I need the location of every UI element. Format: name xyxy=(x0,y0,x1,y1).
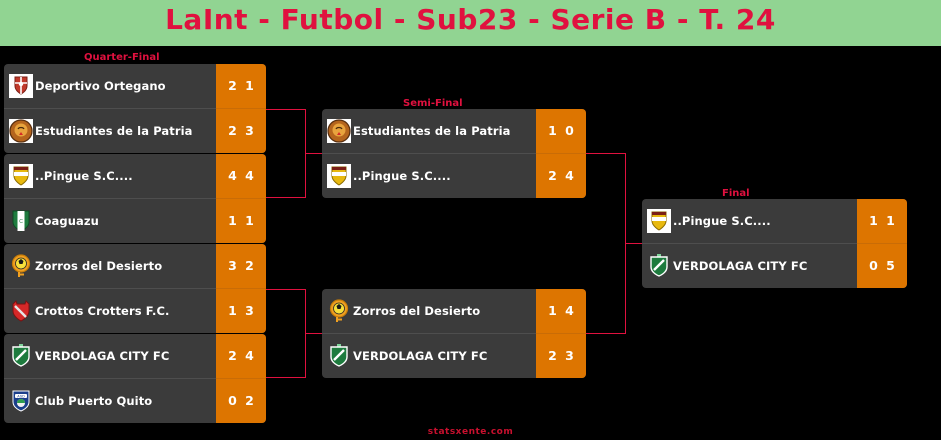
score-cell: 1 4 xyxy=(536,289,586,334)
score-leg1: 1 xyxy=(865,213,882,228)
score-leg2: 4 xyxy=(561,303,578,318)
score-leg1: 2 xyxy=(544,348,561,363)
match-quarter-final-2[interactable]: ..Pingue S.C.... C Coaguazu 4 4 1 1 xyxy=(4,154,266,243)
shield-gold-icon xyxy=(326,163,352,189)
score-column: 3 2 1 3 xyxy=(216,244,266,333)
match-semi-final-1[interactable]: Estudiantes de la Patria ..Pingue S.C...… xyxy=(322,109,586,198)
score-leg2: 1 xyxy=(882,213,899,228)
score-cell: 1 1 xyxy=(216,199,266,244)
circle-ball-orange-icon xyxy=(8,253,34,279)
connector-sf1-in xyxy=(305,153,323,154)
match-quarter-final-4[interactable]: VERDOLAGA CITY FC ASD Club Puerto Quito … xyxy=(4,334,266,423)
score-cell: 2 3 xyxy=(216,109,266,154)
score-leg1: 1 xyxy=(544,123,561,138)
score-leg1: 1 xyxy=(224,213,241,228)
round-label-final: Final xyxy=(722,188,750,199)
score-leg1: 2 xyxy=(224,348,241,363)
score-cell: 1 1 xyxy=(857,199,907,244)
score-cell: 2 4 xyxy=(536,154,586,199)
score-leg1: 2 xyxy=(224,78,241,93)
score-column: 1 4 2 3 xyxy=(536,289,586,378)
connector-qf2-out xyxy=(266,197,306,198)
shield-gold-icon xyxy=(646,208,672,234)
round-label-semi-final: Semi-Final xyxy=(403,98,463,109)
score-leg2: 4 xyxy=(241,168,258,183)
circle-lion-icon xyxy=(326,118,352,144)
score-cell: 2 4 xyxy=(216,334,266,379)
connector-sf1-out xyxy=(586,153,626,154)
score-column: 1 0 2 4 xyxy=(536,109,586,198)
score-leg1: 2 xyxy=(544,168,561,183)
match-semi-final-2[interactable]: Zorros del Desierto VERDOLAGA CITY FC 1 … xyxy=(322,289,586,378)
svg-text:ASD: ASD xyxy=(17,394,25,398)
score-cell: 0 2 xyxy=(216,379,266,424)
shield-green-diagonal-icon xyxy=(326,343,352,369)
score-cell: 1 0 xyxy=(536,109,586,154)
match-quarter-final-1[interactable]: Deportivo Ortegano Estudiantes de la Pat… xyxy=(4,64,266,153)
score-cell: 2 1 xyxy=(216,64,266,109)
score-cell: 2 3 xyxy=(536,334,586,379)
score-leg1: 3 xyxy=(224,258,241,273)
score-leg2: 3 xyxy=(561,348,578,363)
connector-qf3-out xyxy=(266,289,306,290)
score-column: 4 4 1 1 xyxy=(216,154,266,243)
connector-sf2-out xyxy=(586,333,626,334)
shield-red-white-icon xyxy=(8,73,34,99)
score-leg2: 4 xyxy=(561,168,578,183)
score-leg1: 1 xyxy=(224,303,241,318)
score-leg2: 2 xyxy=(241,393,258,408)
circle-lion-icon xyxy=(8,118,34,144)
score-leg2: 2 xyxy=(241,258,258,273)
match-final[interactable]: ..Pingue S.C.... VERDOLAGA CITY FC 1 1 0… xyxy=(642,199,907,288)
match-quarter-final-3[interactable]: Zorros del Desierto Crottos Crotters F.C… xyxy=(4,244,266,333)
score-leg1: 1 xyxy=(544,303,561,318)
score-leg2: 1 xyxy=(241,213,258,228)
circle-ball-orange-icon xyxy=(326,298,352,324)
score-leg2: 1 xyxy=(241,78,258,93)
shield-green-white-icon: C xyxy=(8,208,34,234)
page-header: LaInt - Futbol - Sub23 - Serie B - T. 24 xyxy=(0,0,941,46)
connector-qf1-out xyxy=(266,109,306,110)
score-leg2: 3 xyxy=(241,123,258,138)
score-leg1: 4 xyxy=(224,168,241,183)
score-column: 2 4 0 2 xyxy=(216,334,266,423)
score-cell: 3 2 xyxy=(216,244,266,289)
score-leg1: 2 xyxy=(224,123,241,138)
watermark: statsxente.com xyxy=(0,427,941,437)
score-cell: 1 3 xyxy=(216,289,266,334)
shield-red-devil-icon xyxy=(8,298,34,324)
shield-blue-asd-icon: ASD xyxy=(8,388,34,414)
connector-sf2-in xyxy=(305,333,323,334)
shield-green-diagonal-icon xyxy=(646,253,672,279)
score-leg2: 4 xyxy=(241,348,258,363)
score-cell: 0 5 xyxy=(857,244,907,289)
score-column: 2 1 2 3 xyxy=(216,64,266,153)
round-label-quarter-final: Quarter-Final xyxy=(84,52,160,63)
score-leg1: 0 xyxy=(865,258,882,273)
score-leg2: 0 xyxy=(561,123,578,138)
score-column: 1 1 0 5 xyxy=(857,199,907,288)
shield-gold-icon xyxy=(8,163,34,189)
score-leg1: 0 xyxy=(224,393,241,408)
score-leg2: 5 xyxy=(882,258,899,273)
page-title: LaInt - Futbol - Sub23 - Serie B - T. 24 xyxy=(0,3,941,36)
svg-text:C: C xyxy=(19,219,23,225)
score-leg2: 3 xyxy=(241,303,258,318)
shield-green-diagonal-icon xyxy=(8,343,34,369)
connector-qf4-out xyxy=(266,377,306,378)
score-cell: 4 4 xyxy=(216,154,266,199)
